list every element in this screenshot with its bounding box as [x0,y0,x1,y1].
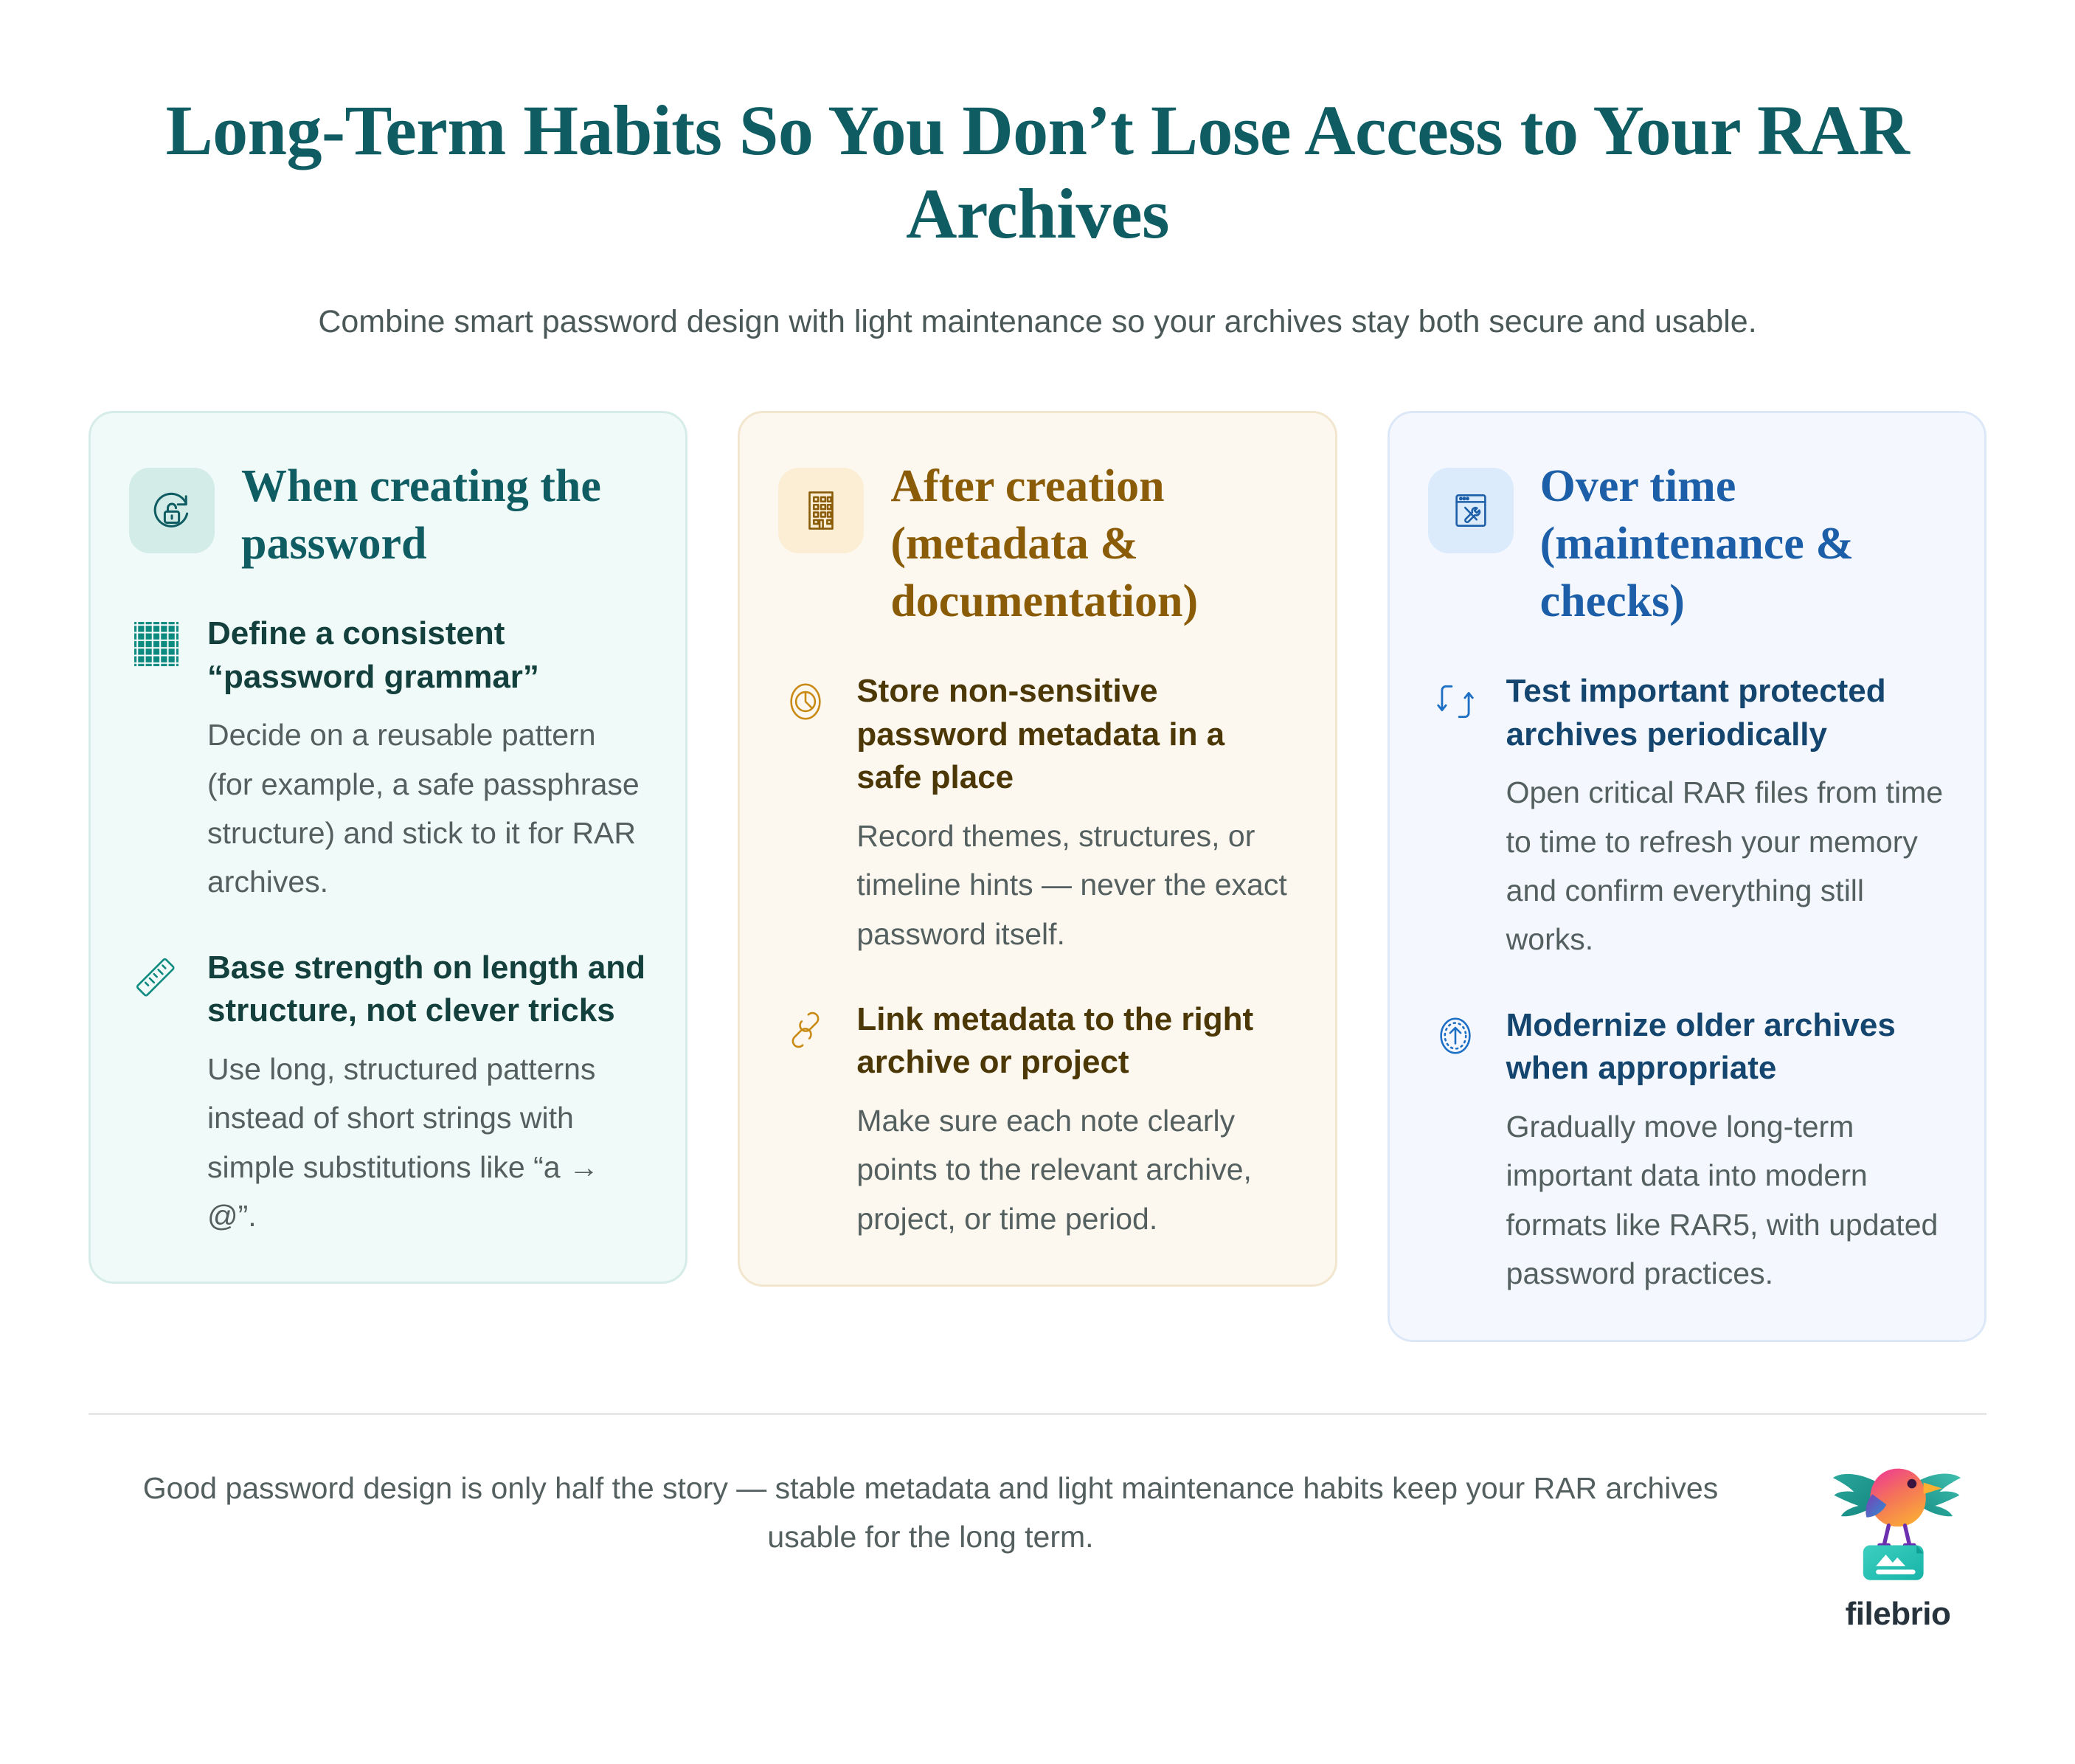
card-after-creation: After creation (metadata & documentation… [738,411,1337,1287]
list-item-title: Define a consistent “password grammar” [207,612,647,699]
list-item-text: Decide on a reusable pattern (for exampl… [207,710,647,907]
vault-dial-icon [778,674,833,729]
filebrio-logo: filebrio [1809,1459,1986,1633]
list-item-title: Modernize older archives when appropriat… [1506,1004,1946,1090]
list-item-body: Store non-sensitive password metadata in… [856,670,1296,958]
link-icon [778,1003,833,1057]
pattern-grid-icon [129,617,184,671]
card-header: Over time (maintenance & checks) [1428,452,1946,630]
password-reset-icon [129,468,215,553]
card-title: Over time (maintenance & checks) [1540,452,1946,630]
building-icon [778,468,864,553]
ruler-icon [129,951,184,1006]
list-item-title: Link metadata to the right archive or pr… [856,998,1296,1085]
list-item-body: Link metadata to the right archive or pr… [856,998,1296,1243]
list-item-text: Gradually move long-term important data … [1506,1102,1946,1298]
sync-arrows-icon [1428,674,1483,729]
card-header: When creating the password [129,452,647,573]
infographic-page: Long-Term Habits So You Don’t Lose Acces… [0,0,2075,1764]
page-subtitle: Combine smart password design with light… [190,299,1886,345]
card-header: After creation (metadata & documentation… [778,452,1296,630]
footer: Good password design is only half the st… [89,1413,1986,1633]
list-item-text: Use long, structured patterns instead of… [207,1045,647,1241]
window-tools-icon [1428,468,1514,553]
list-item-body: Test important protected archives period… [1506,670,1946,964]
list-item: Define a consistent “password grammar” D… [129,612,647,907]
list-item-title: Base strength on length and structure, n… [207,947,647,1033]
upgrade-arrow-icon [1428,1009,1483,1063]
card-over-time: Over time (maintenance & checks) Test im… [1388,411,1986,1342]
list-item-body: Define a consistent “password grammar” D… [207,612,647,907]
logo-wordmark: filebrio [1846,1596,1951,1633]
list-item: Store non-sensitive password metadata in… [778,670,1296,958]
cards-row: When creating the password [89,411,1986,1342]
list-item-text: Make sure each note clearly points to th… [856,1096,1296,1243]
list-item: Link metadata to the right archive or pr… [778,998,1296,1243]
list-item-title: Test important protected archives period… [1506,670,1946,756]
header: Long-Term Habits So You Don’t Lose Acces… [89,89,1986,345]
list-item-body: Base strength on length and structure, n… [207,947,647,1241]
card-title: When creating the password [241,452,647,573]
list-item-body: Modernize older archives when appropriat… [1506,1004,1946,1298]
bird-document-logo-icon [1828,1459,1968,1588]
list-item: Base strength on length and structure, n… [129,947,647,1241]
list-item-text: Record themes, structures, or timeline h… [856,812,1296,958]
list-item: Modernize older archives when appropriat… [1428,1004,1946,1298]
page-title: Long-Term Habits So You Don’t Lose Acces… [134,89,1941,256]
card-title: After creation (metadata & documentation… [890,452,1296,630]
footer-text: Good password design is only half the st… [89,1464,1773,1562]
list-item-title: Store non-sensitive password metadata in… [856,670,1296,800]
card-when-creating-the-password: When creating the password [89,411,687,1284]
list-item-text: Open critical RAR files from time to tim… [1506,768,1946,964]
list-item: Test important protected archives period… [1428,670,1946,964]
